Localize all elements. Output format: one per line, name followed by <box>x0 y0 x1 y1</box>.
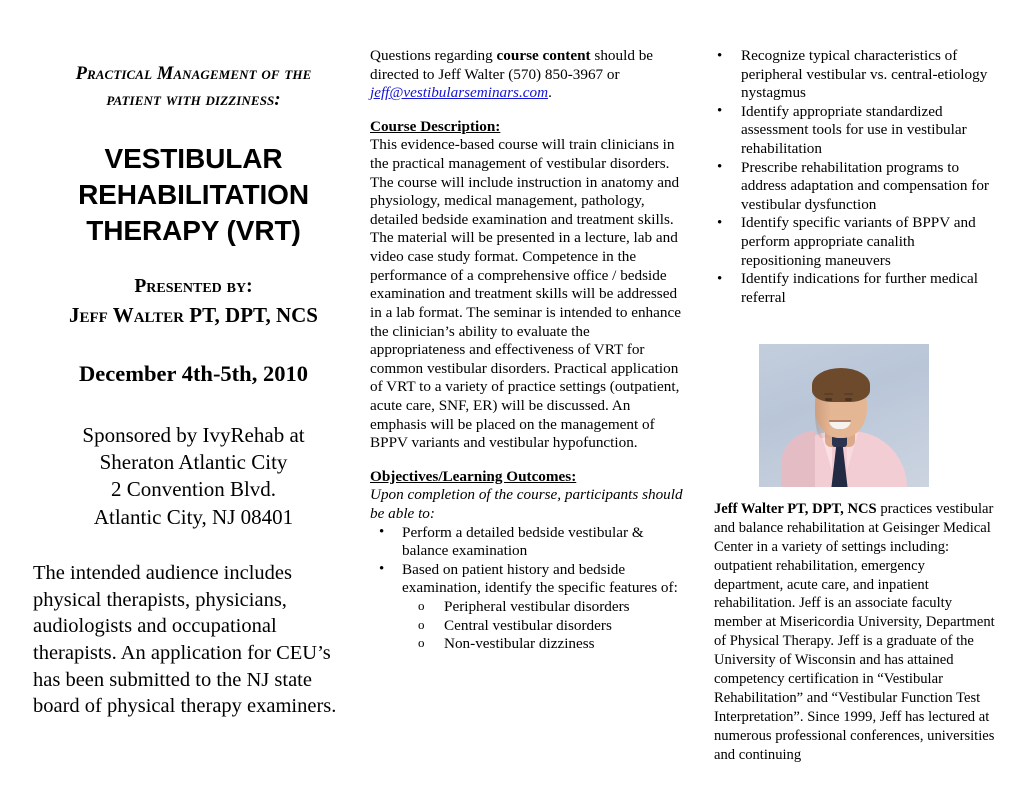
presenter-name: Jeff Walter PT, DPT, NCS <box>26 301 361 330</box>
sponsor-line-3: 2 Convention Blvd. <box>26 476 361 503</box>
bio-name: Jeff Walter PT, DPT, NCS <box>714 501 877 517</box>
spacer <box>370 453 685 468</box>
list-item: Prescribe rehabilitation programs to add… <box>705 159 997 215</box>
contact-paragraph: Questions regarding course content shoul… <box>370 47 685 103</box>
list-item: Perform a detailed bedside vestibular & … <box>370 524 685 561</box>
list-item: Peripheral vestibular disorders <box>370 598 685 617</box>
brochure-page: Practical Management of the patient with… <box>0 0 1020 788</box>
portrait-image <box>759 344 929 487</box>
right-column: Recognize typical characteristics of per… <box>705 0 997 308</box>
list-item: Identify indications for further medical… <box>705 270 997 307</box>
intended-audience-text: The intended audience includes physical … <box>26 531 361 720</box>
presented-by-label: Presented by: <box>26 250 361 301</box>
objectives-sublist: Peripheral vestibular disorders Central … <box>370 598 685 654</box>
kicker-line-1: Practical Management of the <box>76 64 312 84</box>
kicker-line-2: patient with dizziness: <box>106 90 280 110</box>
bio-body: practices vestibular and balance rehabil… <box>714 501 995 763</box>
objectives-intro: Upon completion of the course, participa… <box>370 486 685 523</box>
middle-column: Questions regarding course content shoul… <box>370 0 685 654</box>
contact-emphasis: course content <box>497 47 591 64</box>
objectives-continued-list: Recognize typical characteristics of per… <box>705 47 997 308</box>
course-description-body: This evidence-based course will train cl… <box>370 136 685 452</box>
course-kicker: Practical Management of the patient with… <box>26 0 361 114</box>
presenter-photo <box>759 344 929 487</box>
sponsor-line-4: Atlantic City, NJ 08401 <box>26 504 361 531</box>
list-item: Recognize typical characteristics of per… <box>705 47 997 103</box>
page-title: VESTIBULAR REHABILITATION THERAPY (VRT) <box>26 114 361 250</box>
contact-email-link[interactable]: jeff@vestibularseminars.com <box>370 84 548 101</box>
spacer <box>370 103 685 118</box>
course-date: December 4th-5th, 2010 <box>26 330 361 388</box>
contact-text-pre: Questions regarding <box>370 47 497 64</box>
title-line-3: THERAPY (VRT) <box>26 213 361 249</box>
title-line-1: VESTIBULAR <box>26 141 361 177</box>
left-column: Practical Management of the patient with… <box>26 0 361 720</box>
presenter-bio: Jeff Walter PT, DPT, NCS practices vesti… <box>714 500 996 764</box>
sponsor-line-2: Sheraton Atlantic City <box>26 449 361 476</box>
course-description-heading: Course Description: <box>370 118 685 137</box>
eye-right-shape <box>845 398 852 401</box>
sponsor-line-1: Sponsored by IvyRehab at <box>26 422 361 449</box>
list-item: Based on patient history and bedside exa… <box>370 561 685 598</box>
objectives-list: Perform a detailed bedside vestibular & … <box>370 524 685 598</box>
list-item: Central vestibular disorders <box>370 617 685 636</box>
eyebrow-left-shape <box>824 393 833 395</box>
list-item: Identify appropriate standardized assess… <box>705 103 997 159</box>
eyebrow-right-shape <box>844 393 853 395</box>
hair-fade-shape <box>814 382 868 398</box>
title-line-2: REHABILITATION <box>26 177 361 213</box>
eye-left-shape <box>825 398 832 401</box>
objectives-heading: Objectives/Learning Outcomes: <box>370 468 685 487</box>
sponsor-venue-block: Sponsored by IvyRehab at Sheraton Atlant… <box>26 388 361 531</box>
list-item: Non-vestibular dizziness <box>370 635 685 654</box>
shirt-shadow-shape <box>781 431 815 487</box>
contact-text-post: . <box>548 84 552 101</box>
list-item: Identify specific variants of BPPV and p… <box>705 214 997 270</box>
